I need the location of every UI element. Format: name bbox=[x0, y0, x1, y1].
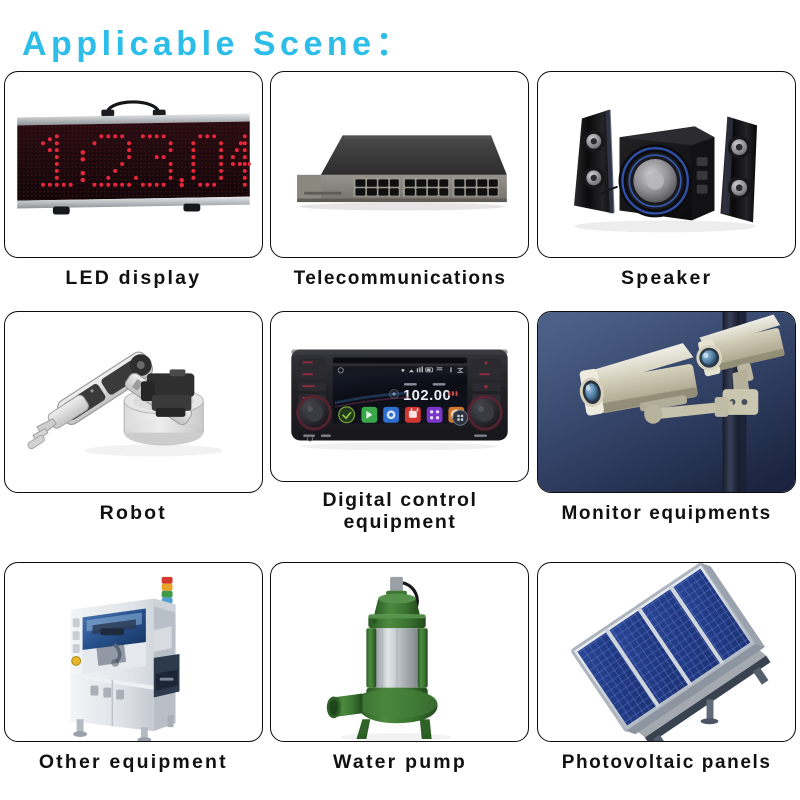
scene-label-water-pump: Water pump bbox=[333, 752, 467, 774]
network-switch-icon bbox=[271, 72, 528, 257]
cctv-camera-icon bbox=[538, 312, 795, 492]
scene-cell-led-display[interactable]: LED display bbox=[0, 62, 267, 308]
scene-card-led-display[interactable] bbox=[4, 71, 263, 258]
scene-cell-telecommunications[interactable]: Telecommunications bbox=[267, 62, 534, 308]
applicable-scene-infographic: Applicable Scene： bbox=[0, 0, 800, 800]
scene-label-led-display: LED display bbox=[65, 268, 201, 290]
svg-text:102.00: 102.00 bbox=[403, 388, 451, 404]
scene-card-photovoltaic-panels[interactable] bbox=[537, 562, 796, 742]
scene-card-water-pump[interactable] bbox=[270, 562, 529, 742]
scene-label-telecommunications: Telecommunications bbox=[294, 268, 507, 289]
robot-arm-icon bbox=[5, 312, 262, 492]
scene-card-monitor-equipments[interactable] bbox=[537, 311, 796, 493]
scene-cell-digital-control[interactable]: 102.00 bbox=[267, 308, 534, 554]
scene-cell-other-equipment[interactable]: Other equipment bbox=[0, 554, 267, 800]
scene-label-speaker: Speaker bbox=[621, 268, 712, 290]
solar-panel-array-icon bbox=[538, 563, 795, 741]
scene-label-monitor-equipments: Monitor equipments bbox=[561, 503, 771, 524]
scene-card-robot[interactable] bbox=[4, 311, 263, 493]
scene-label-photovoltaic-panels: Photovoltaic panels bbox=[562, 752, 772, 773]
scene-cell-monitor-equipments[interactable]: Monitor equipments bbox=[533, 308, 800, 554]
scene-card-other-equipment[interactable] bbox=[4, 562, 263, 742]
scene-cell-water-pump[interactable]: Water pump bbox=[267, 554, 534, 800]
submersible-pump-icon bbox=[271, 563, 528, 741]
scene-label-robot: Robot bbox=[100, 503, 167, 525]
scene-cell-photovoltaic-panels[interactable]: Photovoltaic panels bbox=[533, 554, 800, 800]
car-head-unit-icon: 102.00 bbox=[271, 312, 528, 481]
scene-grid: LED display bbox=[0, 62, 800, 800]
speaker-system-icon bbox=[538, 72, 795, 257]
scene-label-digital-control: Digital control equipment bbox=[322, 490, 477, 534]
led-display-panel-icon bbox=[5, 72, 262, 257]
scene-card-speaker[interactable] bbox=[537, 71, 796, 258]
scene-cell-robot[interactable]: Robot bbox=[0, 308, 267, 554]
scene-card-digital-control[interactable]: 102.00 bbox=[270, 311, 529, 482]
page-title: Applicable Scene： bbox=[22, 16, 414, 65]
scene-cell-speaker[interactable]: Speaker bbox=[533, 62, 800, 308]
scene-label-other-equipment: Other equipment bbox=[39, 752, 228, 774]
scene-card-telecommunications[interactable] bbox=[270, 71, 529, 258]
industrial-machine-icon bbox=[5, 563, 262, 741]
